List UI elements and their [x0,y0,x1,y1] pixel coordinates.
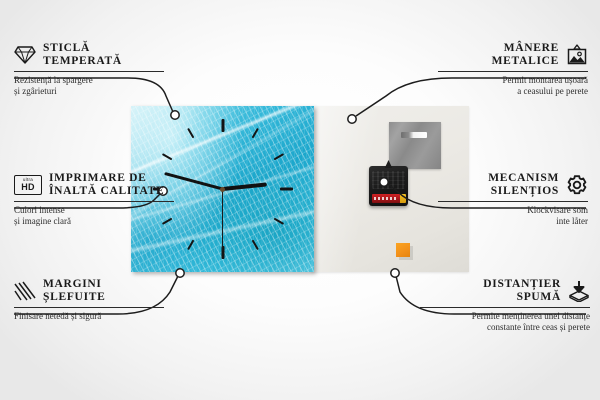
aa-battery [372,194,405,203]
callout-subtitle: Permit montarea ușoară [438,75,588,86]
callout-title: MECANISM SILENȚIOS [488,172,559,198]
hour-tick [161,153,172,160]
callout-header: MECANISM SILENȚIOS [438,172,588,198]
callout-subtitle: Rezistență la spargere [14,75,164,86]
callout-divider [438,71,588,72]
ultra-hd-badge-icon: ultra HD [14,175,42,195]
callout-hd-printing: ultra HD IMPRIMARE DE ÎNALTĂ CALITATE Cu… [14,172,174,226]
callout-divider [438,201,588,202]
callout-divider [14,71,164,72]
callout-header: STICLĂ TEMPERATĂ [14,42,164,68]
callout-title: DISTANȚIER SPUMĂ [483,278,561,304]
callout-subtitle: Permite menținerea unei distanțe [420,311,590,322]
battery-plus-terminal [400,194,406,203]
movement-texture [372,171,405,189]
callout-title: IMPRIMARE DE ÎNALTĂ CALITATE [49,172,164,198]
callout-subtitle: Klockvisare som [438,205,588,216]
battery-label [374,197,396,200]
callout-divider [14,307,164,308]
press-down-pad-icon [568,280,590,302]
hour-tick [187,128,194,139]
callout-tempered-glass: STICLĂ TEMPERATĂ Rezistență la spargere … [14,42,164,96]
foam-spacer-pad [396,243,410,257]
callout-header: MÂNERE METALICE [438,42,588,68]
callout-divider [14,201,174,202]
hour-tick [251,128,258,139]
callout-subtitle: Culori intense [14,205,174,216]
metal-hanger-plate [389,122,441,169]
callout-title: MARGINI ȘLEFUITE [43,278,105,304]
callout-header: MARGINI ȘLEFUITE [14,278,164,304]
callout-subtitle: și imagine clară [14,216,174,227]
second-hand [222,189,224,251]
callout-foam-spacer: DISTANȚIER SPUMĂ Permite menținerea unei… [420,278,590,332]
callout-metal-hangers: MÂNERE METALICE Permit montarea ușoară a… [438,42,588,96]
hour-tick [280,188,293,191]
hd-label: HD [21,183,35,192]
hour-tick [221,119,224,132]
callout-subtitle: inte låter [438,216,588,227]
hanging-picture-icon [566,44,588,66]
callout-subtitle: a ceasului pe perete [438,86,588,97]
hour-tick [273,218,284,225]
callout-divider [420,307,590,308]
callout-subtitle: Finisare netedă și sigură [14,311,164,322]
hour-hand [222,182,266,191]
hour-tick [187,240,194,251]
callout-header: ultra HD IMPRIMARE DE ÎNALTĂ CALITATE [14,172,174,198]
callout-polished-edges: MARGINI ȘLEFUITE Finisare netedă și sigu… [14,278,164,322]
quartz-clock-movement [369,166,408,206]
callout-title: STICLĂ TEMPERATĂ [43,42,122,68]
infographic-canvas: STICLĂ TEMPERATĂ Rezistență la spargere … [0,0,600,400]
product-photo-group [131,106,469,273]
callout-header: DISTANȚIER SPUMĂ [420,278,590,304]
hour-tick [273,153,284,160]
hanger-slot [401,132,427,138]
diamond-icon [14,44,36,66]
gear-icon [566,174,588,196]
hands-center-cap [220,187,225,192]
callout-title: MÂNERE METALICE [492,42,559,68]
callout-silent-mechanism: MECANISM SILENȚIOS Klockvisare som inte … [438,172,588,226]
hatched-edge-icon [14,280,36,302]
callout-subtitle: și zgârieturi [14,86,164,97]
hour-tick [251,240,258,251]
callout-subtitle: constante între ceas și perete [420,322,590,333]
